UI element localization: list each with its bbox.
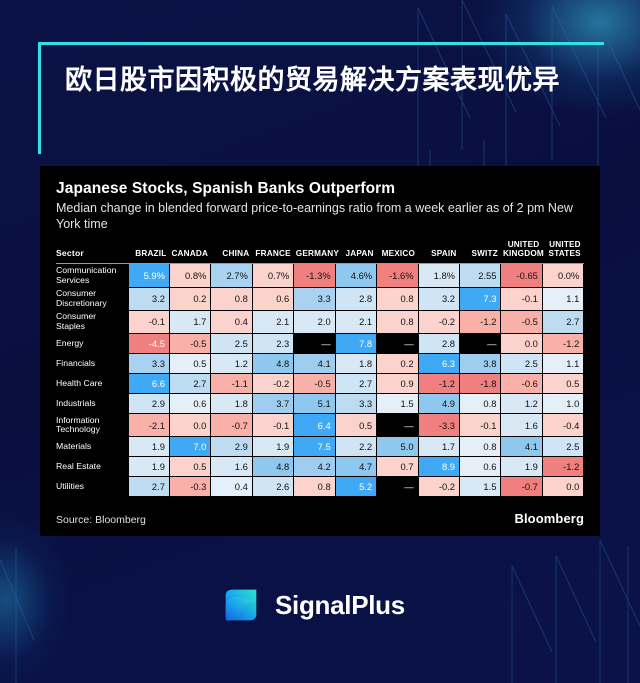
col-header-france: FRANCE bbox=[252, 240, 293, 261]
heatmap-cell: -3.3 bbox=[418, 414, 459, 437]
heatmap-cell: 6.6 bbox=[128, 374, 169, 394]
heatmap-cell: 0.0 bbox=[501, 334, 542, 354]
heatmap-cell: 2.5 bbox=[501, 354, 542, 374]
heatmap-cell: 4.9 bbox=[418, 394, 459, 414]
row-label-real-estate: Real Estate bbox=[56, 457, 128, 477]
heatmap-cell: -0.1 bbox=[501, 287, 542, 310]
col-header-canada: CANADA bbox=[169, 240, 210, 261]
heatmap-cell: 2.1 bbox=[252, 310, 293, 333]
heatmap-cell: 7.3 bbox=[460, 287, 501, 310]
heatmap-cell: 0.8 bbox=[377, 310, 418, 333]
row-label-energy: Energy bbox=[56, 334, 128, 354]
col-header-brazil: BRAZIL bbox=[128, 240, 169, 261]
heatmap-cell: -1.8 bbox=[460, 374, 501, 394]
heatmap-cell: -0.2 bbox=[418, 477, 459, 497]
heatmap-cell: 1.2 bbox=[501, 394, 542, 414]
heatmap-cell: 2.1 bbox=[335, 310, 376, 333]
heatmap-cell: 0.4 bbox=[211, 477, 252, 497]
heatmap-cell: 0.7 bbox=[377, 457, 418, 477]
heatmap-cell: 0.8% bbox=[169, 264, 210, 288]
table-head: SectorBRAZILCANADACHINAFRANCEGERMANYJAPA… bbox=[56, 240, 584, 264]
row-label-industrials: Industrials bbox=[56, 394, 128, 414]
heatmap-cell: 3.2 bbox=[418, 287, 459, 310]
heatmap-cell: 2.9 bbox=[128, 394, 169, 414]
heatmap-cell: 2.8 bbox=[335, 287, 376, 310]
table-row: Consumer Staples-0.11.70.42.12.02.10.8-0… bbox=[56, 310, 584, 333]
heatmap-cell: 1.8 bbox=[211, 394, 252, 414]
col-header-mexico: MEXICO bbox=[377, 240, 418, 261]
heatmap-cell: 4.6% bbox=[335, 264, 376, 288]
heatmap-cell: 0.5 bbox=[335, 414, 376, 437]
bloomberg-wordmark: Bloomberg bbox=[514, 511, 584, 526]
heatmap-cell: 2.7 bbox=[335, 374, 376, 394]
heatmap-cell: -1.1 bbox=[211, 374, 252, 394]
heatmap-cell: 4.1 bbox=[501, 437, 542, 457]
col-header-china: CHINA bbox=[211, 240, 252, 261]
heatmap-cell: -1.2 bbox=[542, 334, 583, 354]
heatmap-cell: 0.2 bbox=[169, 287, 210, 310]
heatmap-cell: -0.4 bbox=[542, 414, 583, 437]
heatmap-cell: 1.5 bbox=[460, 477, 501, 497]
col-header-germany: GERMANY bbox=[294, 240, 335, 261]
heatmap-cell: 7.0 bbox=[169, 437, 210, 457]
heatmap-cell: 1.8% bbox=[418, 264, 459, 288]
heatmap-cell: 3.3 bbox=[294, 287, 335, 310]
heatmap-cell: 6.4 bbox=[294, 414, 335, 437]
col-header-japan: JAPAN bbox=[335, 240, 376, 261]
heatmap-cell: 1.9 bbox=[128, 457, 169, 477]
heatmap-cell: -0.1 bbox=[128, 310, 169, 333]
heatmap-cell: 0.4 bbox=[211, 310, 252, 333]
signalplus-mark-icon bbox=[218, 582, 264, 628]
heatmap-cell: 5.9% bbox=[128, 264, 169, 288]
table-row: Energy-4.5-0.52.52.3—7.8—2.8—0.0-1.2 bbox=[56, 334, 584, 354]
heatmap-cell: 3.3 bbox=[335, 394, 376, 414]
table-row: Health Care6.62.7-1.1-0.2-0.52.70.9-1.2-… bbox=[56, 374, 584, 394]
col-header-united-states: UNITEDSTATES bbox=[542, 240, 583, 261]
heatmap-cell: 1.7 bbox=[169, 310, 210, 333]
heatmap-cell: 0.8 bbox=[294, 477, 335, 497]
heatmap-cell: 4.8 bbox=[252, 354, 293, 374]
heatmap-cell: -1.3% bbox=[294, 264, 335, 288]
heatmap-cell: 2.7 bbox=[542, 310, 583, 333]
table-row: Communication Services5.9%0.8%2.7%0.7%-1… bbox=[56, 264, 584, 288]
heatmap-cell: -0.1 bbox=[460, 414, 501, 437]
heatmap-cell: — bbox=[294, 334, 335, 354]
heatmap-cell: 2.0 bbox=[294, 310, 335, 333]
heatmap-cell: 0.0 bbox=[542, 477, 583, 497]
heatmap-cell: 4.8 bbox=[252, 457, 293, 477]
heatmap-cell: -1.2 bbox=[542, 457, 583, 477]
heatmap-cell: 0.5 bbox=[169, 354, 210, 374]
heatmap-cell: — bbox=[377, 334, 418, 354]
heatmap-cell: 4.7 bbox=[335, 457, 376, 477]
heatmap-cell: 1.9 bbox=[252, 437, 293, 457]
heatmap-cell: 1.8 bbox=[335, 354, 376, 374]
heatmap-cell: 1.1 bbox=[542, 287, 583, 310]
bloomberg-chart-card: Japanese Stocks, Spanish Banks Outperfor… bbox=[40, 166, 600, 536]
heatmap-cell: 2.9 bbox=[211, 437, 252, 457]
heatmap-cell: -0.7 bbox=[211, 414, 252, 437]
table-header-row: SectorBRAZILCANADACHINAFRANCEGERMANYJAPA… bbox=[56, 240, 584, 261]
heatmap-cell: 1.6 bbox=[211, 457, 252, 477]
heatmap-cell: 1.0 bbox=[542, 394, 583, 414]
signalplus-logo: SignalPlus bbox=[218, 582, 405, 628]
heatmap-cell: — bbox=[377, 414, 418, 437]
heatmap-cell: 1.9 bbox=[501, 457, 542, 477]
row-label-communication-services: Communication Services bbox=[56, 264, 128, 288]
col-header-switz: SWITZ bbox=[460, 240, 501, 261]
heatmap-cell: 0.8 bbox=[211, 287, 252, 310]
heatmap-cell: 0.6 bbox=[252, 287, 293, 310]
heatmap-cell: 4.2 bbox=[294, 457, 335, 477]
row-label-materials: Materials bbox=[56, 437, 128, 457]
heatmap-cell: -0.2 bbox=[252, 374, 293, 394]
heatmap-cell: 1.9 bbox=[128, 437, 169, 457]
table-row: Industrials2.90.61.83.75.13.31.54.90.81.… bbox=[56, 394, 584, 414]
row-label-consumer-discretionary: Consumer Discretionary bbox=[56, 287, 128, 310]
heatmap-cell: 2.2 bbox=[335, 437, 376, 457]
table-row: Information Technology-2.10.0-0.7-0.16.4… bbox=[56, 414, 584, 437]
heatmap-cell: 0.0% bbox=[542, 264, 583, 288]
heatmap-cell: 0.2 bbox=[377, 354, 418, 374]
heatmap-cell: -0.5 bbox=[501, 310, 542, 333]
heatmap-cell: 0.6 bbox=[460, 457, 501, 477]
heatmap-cell: — bbox=[460, 334, 501, 354]
source-label: Source: Bloomberg bbox=[56, 514, 146, 526]
heatmap-cell: 7.5 bbox=[294, 437, 335, 457]
table-row: Consumer Discretionary3.20.20.80.63.32.8… bbox=[56, 287, 584, 310]
chart-subtitle: Median change in blended forward price-t… bbox=[56, 201, 596, 232]
chart-title: Japanese Stocks, Spanish Banks Outperfor… bbox=[56, 180, 584, 198]
card-footer: Source: Bloomberg Bloomberg bbox=[56, 511, 584, 526]
heatmap-cell: 2.5 bbox=[542, 437, 583, 457]
page-title: 欧日股市因积极的贸易解决方案表现优异 bbox=[65, 59, 607, 101]
heatmap-cell: 7.8 bbox=[335, 334, 376, 354]
heatmap-cell: 2.3 bbox=[252, 334, 293, 354]
heatmap-table: SectorBRAZILCANADACHINAFRANCEGERMANYJAPA… bbox=[56, 240, 584, 497]
heatmap-cell: 2.8 bbox=[418, 334, 459, 354]
row-label-health-care: Health Care bbox=[56, 374, 128, 394]
heatmap-cell: -1.2 bbox=[460, 310, 501, 333]
heatmap-cell: -0.6 bbox=[501, 374, 542, 394]
heatmap-cell: 5.0 bbox=[377, 437, 418, 457]
heatmap-cell: 0.0 bbox=[169, 414, 210, 437]
heatmap-cell: 3.3 bbox=[128, 354, 169, 374]
heatmap-cell: -4.5 bbox=[128, 334, 169, 354]
table-row: Real Estate1.90.51.64.84.24.70.78.90.61.… bbox=[56, 457, 584, 477]
heatmap-cell: -1.6% bbox=[377, 264, 418, 288]
heatmap-cell: 0.8 bbox=[460, 394, 501, 414]
heatmap-cell: 2.6 bbox=[252, 477, 293, 497]
table-row: Utilities2.7-0.30.42.60.85.2—-0.21.5-0.7… bbox=[56, 477, 584, 497]
signalplus-wordmark: SignalPlus bbox=[275, 590, 405, 621]
heatmap-cell: 2.5 bbox=[211, 334, 252, 354]
col-header-spain: SPAIN bbox=[418, 240, 459, 261]
heatmap-cell: 0.5 bbox=[169, 457, 210, 477]
col-header-united-kingdom: UNITEDKINGDOM bbox=[501, 240, 542, 261]
row-label-consumer-staples: Consumer Staples bbox=[56, 310, 128, 333]
heatmap-cell: 5.2 bbox=[335, 477, 376, 497]
heatmap-cell: -0.5 bbox=[294, 374, 335, 394]
heatmap-cell: 2.7% bbox=[211, 264, 252, 288]
heatmap-cell: 1.1 bbox=[542, 354, 583, 374]
heatmap-cell: 0.8 bbox=[460, 437, 501, 457]
heatmap-cell: -0.7 bbox=[501, 477, 542, 497]
heatmap-cell: -0.65 bbox=[501, 264, 542, 288]
heatmap-cell: 0.6 bbox=[169, 394, 210, 414]
row-label-information-technology: Information Technology bbox=[56, 414, 128, 437]
heatmap-cell: 0.8 bbox=[377, 287, 418, 310]
heatmap-cell: -0.5 bbox=[169, 334, 210, 354]
heatmap-cell: 2.7 bbox=[169, 374, 210, 394]
table-row: Materials1.97.02.91.97.52.25.01.70.84.12… bbox=[56, 437, 584, 457]
heatmap-cell: 6.3 bbox=[418, 354, 459, 374]
heatmap-cell: 3.2 bbox=[128, 287, 169, 310]
heatmap-cell: 0.5 bbox=[542, 374, 583, 394]
col-header-sector: Sector bbox=[56, 240, 128, 261]
heatmap-cell: -0.2 bbox=[418, 310, 459, 333]
heatmap-cell: -2.1 bbox=[128, 414, 169, 437]
heatmap-cell: 1.5 bbox=[377, 394, 418, 414]
page-root: 欧日股市因积极的贸易解决方案表现优异 Japanese Stocks, Span… bbox=[0, 0, 640, 683]
heatmap-cell: 5.1 bbox=[294, 394, 335, 414]
heatmap-cell: 1.6 bbox=[501, 414, 542, 437]
heatmap-cell: 3.8 bbox=[460, 354, 501, 374]
heatmap-cell: 4.1 bbox=[294, 354, 335, 374]
row-label-utilities: Utilities bbox=[56, 477, 128, 497]
table-body: Communication Services5.9%0.8%2.7%0.7%-1… bbox=[56, 264, 584, 497]
row-label-financials: Financials bbox=[56, 354, 128, 374]
heatmap-cell: 3.7 bbox=[252, 394, 293, 414]
heatmap-cell: 0.9 bbox=[377, 374, 418, 394]
table-row: Financials3.30.51.24.84.11.80.26.33.82.5… bbox=[56, 354, 584, 374]
title-accent-frame: 欧日股市因积极的贸易解决方案表现优异 bbox=[38, 42, 604, 154]
heatmap-cell: — bbox=[377, 477, 418, 497]
heatmap-cell: 8.9 bbox=[418, 457, 459, 477]
heatmap-cell: 1.7 bbox=[418, 437, 459, 457]
heatmap-cell: -1.2 bbox=[418, 374, 459, 394]
heatmap-cell: -0.1 bbox=[252, 414, 293, 437]
heatmap-cell: 2.55 bbox=[460, 264, 501, 288]
heatmap-cell: 2.7 bbox=[128, 477, 169, 497]
heatmap-cell: 0.7% bbox=[252, 264, 293, 288]
heatmap-cell: 1.2 bbox=[211, 354, 252, 374]
heatmap-cell: -0.3 bbox=[169, 477, 210, 497]
title-accent-top-bar bbox=[38, 42, 356, 45]
